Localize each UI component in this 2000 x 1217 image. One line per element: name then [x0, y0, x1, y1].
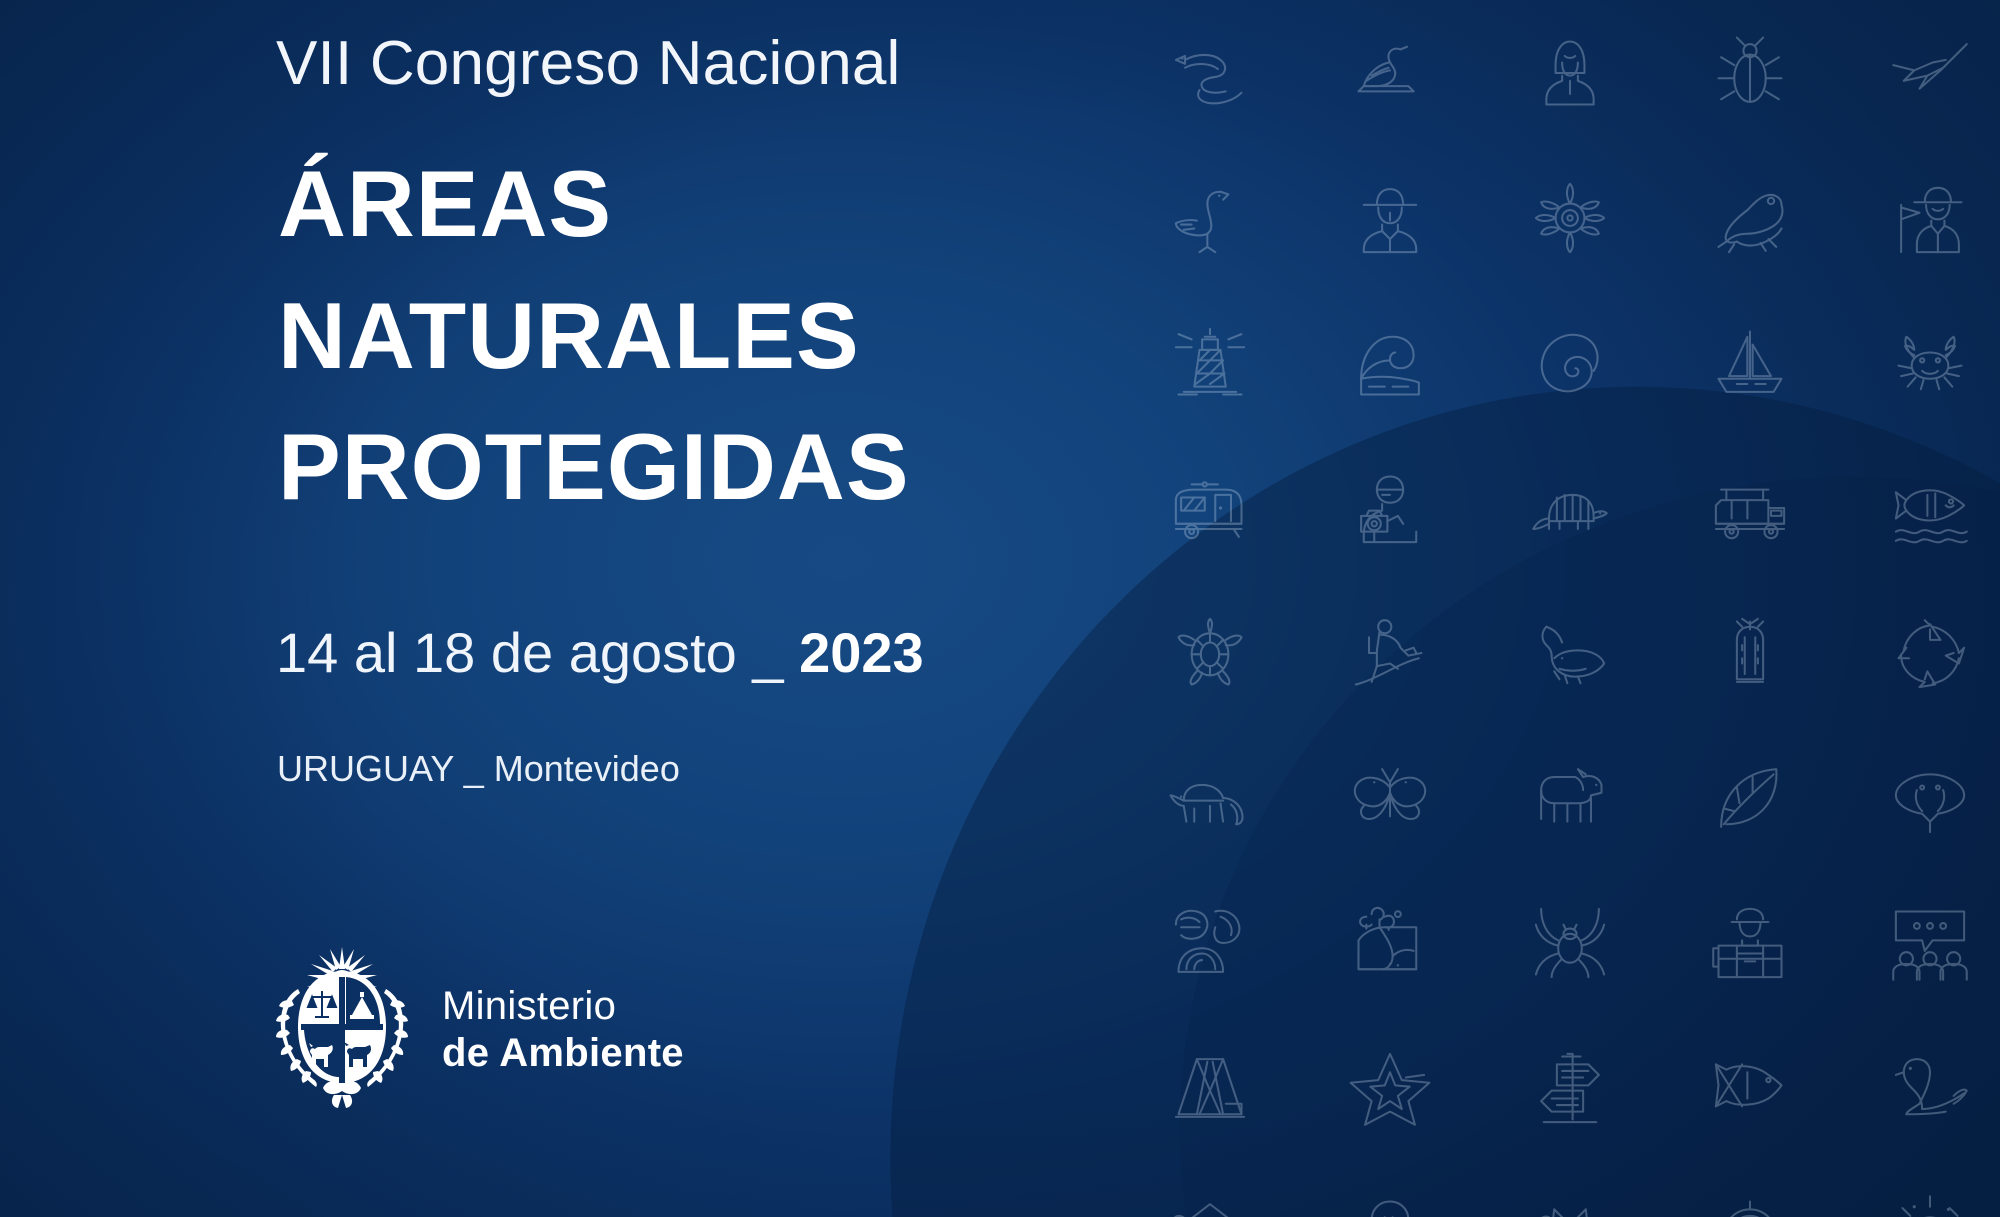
beetle-icon [1708, 31, 1792, 115]
headline-line-3: PROTEGIDAS [278, 401, 910, 533]
date-range: 14 al 18 de agosto [276, 621, 737, 684]
date-separator: _ [752, 621, 783, 684]
sailboat-icon [1708, 321, 1792, 405]
fox-icon [1528, 1191, 1612, 1217]
page-title: ÁREAS NATURALES PROTEGIDAS [278, 138, 910, 533]
swan-icon [1348, 31, 1432, 115]
whale-icon [1528, 611, 1612, 695]
flying-bird-icon [1888, 31, 1972, 115]
starfish-icon [1348, 1046, 1432, 1130]
leaf-icon [1708, 756, 1792, 840]
climber-icon [1348, 611, 1432, 695]
stingray-icon [1888, 756, 1972, 840]
cabin-icon [1168, 1191, 1252, 1217]
headline-line-2: NATURALES [278, 270, 910, 402]
lighthouse-icon [1168, 321, 1252, 405]
snake-icon [1168, 31, 1252, 115]
sea-turtle-icon [1168, 611, 1252, 695]
congress-poster: VII Congreso Nacional ÁREAS NATURALES PR… [0, 0, 2000, 1217]
frog-icon [1708, 176, 1792, 260]
ministry-line-2: de Ambiente [442, 1030, 684, 1077]
wave-icon [1348, 321, 1432, 405]
fish-cross-icon [1708, 1046, 1792, 1130]
horse-icon [1528, 756, 1612, 840]
photographer-icon [1348, 466, 1432, 550]
park-ranger-hat-icon [1348, 176, 1432, 260]
safari-jeep-icon [1708, 466, 1792, 550]
fish-water-icon [1888, 466, 1972, 550]
ministry-logo-lockup: Ministerio de Ambiente [268, 943, 684, 1113]
butterfly-icon [1348, 756, 1432, 840]
congress-kicker: VII Congreso Nacional [276, 28, 901, 99]
event-dateline: 14 al 18 de agosto _ 2023 [276, 620, 924, 685]
sunflower-icon [1528, 176, 1612, 260]
woman-icon [1528, 31, 1612, 115]
compass-icon [1708, 1191, 1792, 1217]
anteater-icon [1168, 756, 1252, 840]
ranger-backpack-icon [1708, 901, 1792, 985]
event-location: URUGUAY _ Montevideo [277, 748, 680, 790]
headline-line-1: ÁREAS [278, 138, 910, 270]
bird-nest-icon [1348, 1191, 1432, 1217]
fossil-icon [1168, 901, 1252, 985]
ministry-name: Ministerio de Ambiente [442, 979, 684, 1077]
sea-lion-icon [1888, 1046, 1972, 1130]
uruguay-coat-of-arms-icon [268, 943, 416, 1113]
flamingo-icon [1168, 176, 1252, 260]
signpost-icon [1528, 1046, 1612, 1130]
sea-shell-icon [1528, 321, 1612, 405]
presentation-audience-icon [1888, 901, 1972, 985]
crab-icon [1888, 321, 1972, 405]
ranger-flag-icon [1888, 176, 1972, 260]
cactus-icon [1708, 611, 1792, 695]
recycle-icon [1888, 611, 1972, 695]
spider-icon [1528, 901, 1612, 985]
armadillo-icon [1528, 466, 1612, 550]
ministry-line-1: Ministerio [442, 983, 684, 1030]
sun-icon [1888, 1191, 1972, 1217]
event-year: 2023 [799, 621, 924, 684]
tent-icon [1168, 1046, 1252, 1130]
caravan-icon [1168, 466, 1252, 550]
cave-painting-icon [1348, 901, 1432, 985]
decorative-icon-pattern [1120, 0, 2000, 1217]
